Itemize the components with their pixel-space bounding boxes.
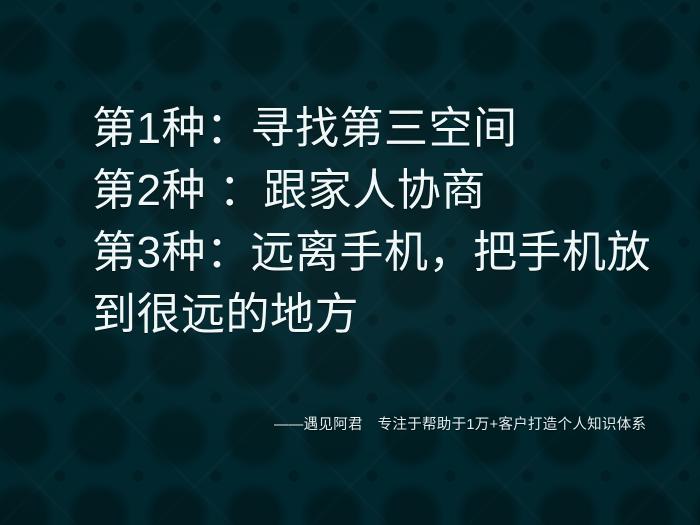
attribution-footnote: ——遇见阿君 专注于帮助于1万+客户打造个人知识体系 (274, 415, 646, 435)
headline-line-1: 第1种：寻找第三空间 (92, 98, 672, 160)
headline-line-2: 第2种 ：跟家人协商 (92, 160, 672, 222)
slide-content: 第1种：寻找第三空间 第2种 ：跟家人协商 第3种：远离手机，把手机放 到很远的… (0, 0, 700, 525)
headline-block: 第1种：寻找第三空间 第2种 ：跟家人协商 第3种：远离手机，把手机放 到很远的… (92, 98, 672, 346)
headline-line-4: 到很远的地方 (92, 284, 672, 346)
headline-line-3: 第3种：远离手机，把手机放 (92, 222, 672, 284)
slide-canvas: 第1种：寻找第三空间 第2种 ：跟家人协商 第3种：远离手机，把手机放 到很远的… (0, 0, 700, 525)
